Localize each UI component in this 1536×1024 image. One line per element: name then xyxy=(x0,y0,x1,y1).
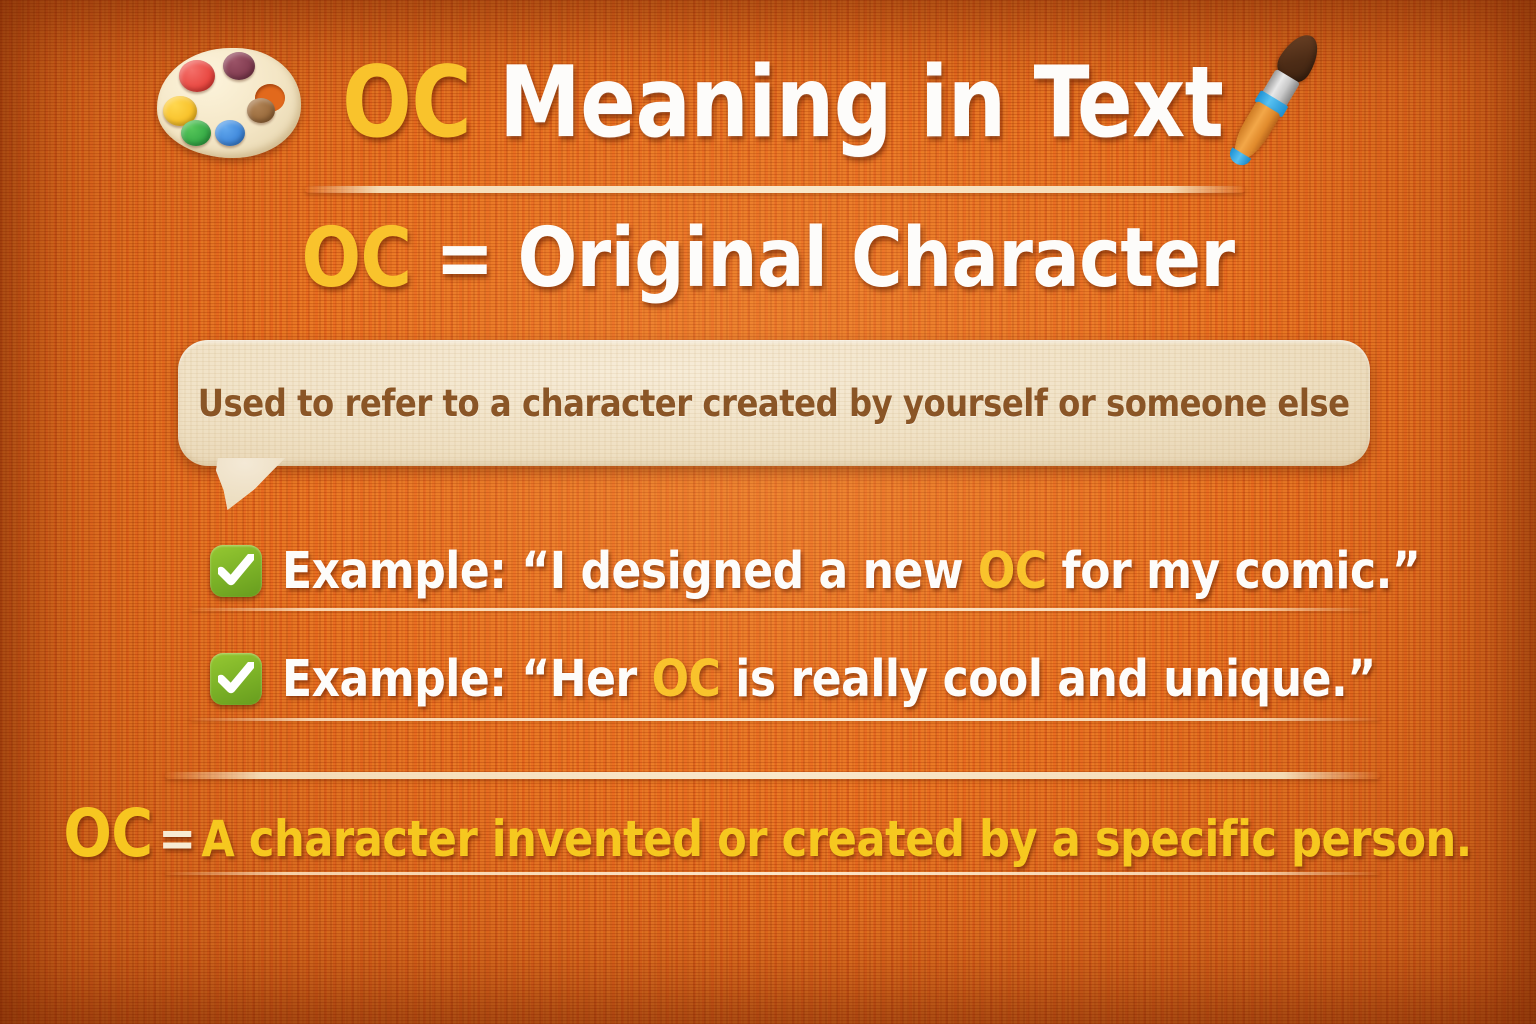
green-check-icon xyxy=(210,545,262,597)
example-row-2: Example: “Her OC is really cool and uniq… xyxy=(210,653,1421,705)
speech-bubble: Used to refer to a character created by … xyxy=(178,340,1370,466)
divider-under-title xyxy=(305,186,1245,193)
subtitle-expansion: Original Character xyxy=(518,211,1235,306)
page-title-rest: Meaning in Text xyxy=(471,46,1223,160)
divider-under-example-1 xyxy=(190,608,1370,611)
example-2-term: OC xyxy=(652,650,721,709)
example-2-prefix: Example: “Her xyxy=(282,650,652,709)
green-check-icon xyxy=(210,653,262,705)
example-1-suffix: for my comic.” xyxy=(1047,542,1421,601)
speech-bubble-text: Used to refer to a character created by … xyxy=(198,385,1350,422)
subtitle-separator: = xyxy=(411,211,517,306)
infographic-poster: OC Meaning in Text OC = Original Charact… xyxy=(0,0,1536,1024)
summary-line: OC=A character invented or created by a … xyxy=(0,795,1536,872)
example-text-2: Example: “Her OC is really cool and uniq… xyxy=(282,654,1376,705)
summary-separator: = xyxy=(159,809,196,869)
page-title: OC Meaning in Text xyxy=(342,54,1223,152)
example-2-suffix: is really cool and unique.” xyxy=(720,650,1375,709)
paintbrush-icon xyxy=(1263,28,1383,178)
summary-definition: A character invented or created by a spe… xyxy=(202,810,1472,868)
artist-palette-icon xyxy=(153,40,305,166)
example-1-prefix: Example: “I designed a new xyxy=(282,542,978,601)
check-glyph xyxy=(218,554,254,588)
header: OC Meaning in Text xyxy=(0,28,1536,178)
page-title-term: OC xyxy=(342,46,471,160)
divider-above-summary xyxy=(165,772,1380,779)
paintbrush-body xyxy=(1218,24,1331,169)
definition-callout: Used to refer to a character created by … xyxy=(178,340,1370,466)
check-glyph xyxy=(218,662,254,696)
subtitle-term: OC xyxy=(301,211,411,306)
palette-dab-red xyxy=(179,60,215,92)
palette-dab-purple xyxy=(223,52,255,80)
subtitle: OC = Original Character xyxy=(38,218,1497,300)
divider-under-example-2 xyxy=(190,718,1380,721)
example-text-1: Example: “I designed a new OC for my com… xyxy=(282,546,1420,597)
example-row-1: Example: “I designed a new OC for my com… xyxy=(210,545,1468,597)
summary-term: OC xyxy=(64,795,153,872)
divider-under-summary xyxy=(165,872,1380,875)
example-1-term: OC xyxy=(978,542,1047,601)
